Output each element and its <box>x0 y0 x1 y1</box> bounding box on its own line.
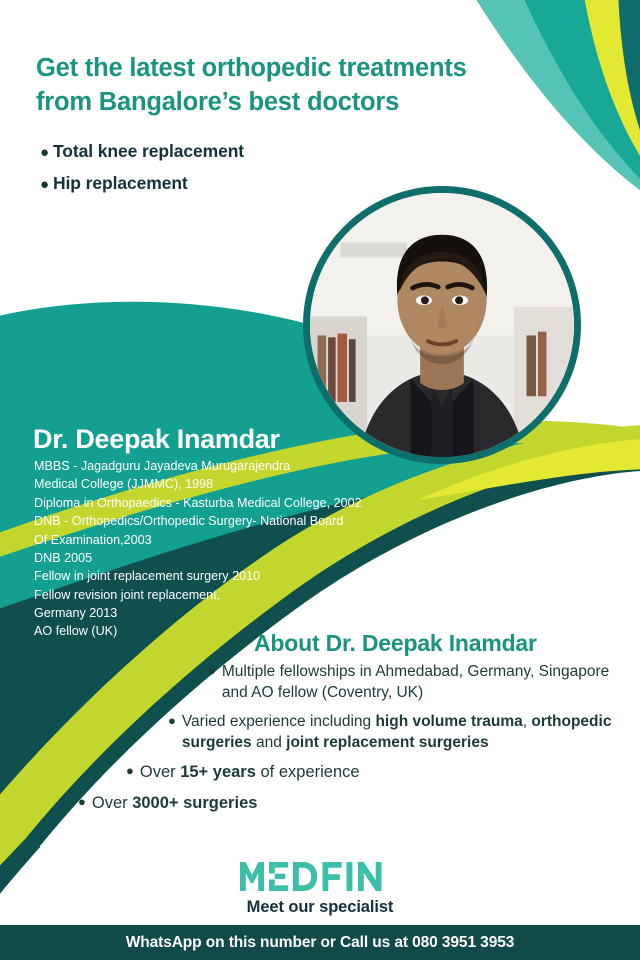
treatment-label: Total knee replacement <box>53 141 244 162</box>
treatment-list: ● Total knee replacement ● Hip replaceme… <box>40 141 370 205</box>
poster-root: Get the latest orthopedic treatments fro… <box>0 0 640 960</box>
about-item-text: Multiple fellowships in Ahmedabad, Germa… <box>222 662 620 703</box>
about-item-text: Over 3000+ surgeries <box>92 793 258 815</box>
bullet-icon: ● <box>78 793 92 815</box>
list-item: ● Over 15+ years of experience <box>60 762 620 784</box>
credential-line: Medical College (JJMMC), 1998 <box>34 475 414 493</box>
credential-line: MBBS - Jagadguru Jayadeva Murugarajendra <box>34 457 414 475</box>
footer-contact-text: WhatsApp on this number or Call us at 08… <box>126 934 515 952</box>
credential-line: Of Examination,2003 <box>34 531 414 549</box>
about-list: ● Multiple fellowships in Ahmedabad, Ger… <box>60 662 620 824</box>
doctor-portrait <box>303 186 581 464</box>
credential-line: DNB - Orthopedics/Orthopedic Surgery- Na… <box>34 512 414 530</box>
treatment-label: Hip replacement <box>53 173 188 194</box>
brand-tagline: Meet our specialist <box>0 898 640 917</box>
headline-line-1: Get the latest orthopedic treatments <box>36 52 456 86</box>
bullet-icon: ● <box>40 145 53 160</box>
footer-contact-bar: WhatsApp on this number or Call us at 08… <box>0 925 640 960</box>
about-item-text: Over 15+ years of experience <box>140 762 360 784</box>
credential-line: Diploma in Orthopaedics - Kasturba Medic… <box>34 494 414 512</box>
bullet-icon: ● <box>126 762 140 784</box>
about-heading: About Dr. Deepak Inamdar <box>254 630 537 657</box>
doctor-credentials: MBBS - Jagadguru Jayadeva Murugarajendra… <box>34 457 414 641</box>
brand-block: Meet our specialist <box>0 862 640 917</box>
about-item-text: Varied experience including high volume … <box>182 712 620 753</box>
bullet-icon: ● <box>40 177 53 192</box>
headline-line-2: from Bangalore’s best doctors <box>36 86 456 120</box>
list-item: ● Total knee replacement <box>40 141 370 162</box>
credential-line: Fellow revision joint replacement, <box>34 586 414 604</box>
credential-line: Fellow in joint replacement surgery 2010 <box>34 567 414 585</box>
list-item: ● Over 3000+ surgeries <box>60 793 620 815</box>
page-title: Get the latest orthopedic treatments fro… <box>36 52 456 119</box>
list-item: ● Hip replacement <box>40 173 370 194</box>
credential-line: Germany 2013 <box>34 604 414 622</box>
list-item: ● Varied experience including high volum… <box>60 712 620 753</box>
credential-line: DNB 2005 <box>34 549 414 567</box>
medfin-logo <box>240 862 400 892</box>
doctor-name: Dr. Deepak Inamdar <box>33 424 280 455</box>
list-item: ● Multiple fellowships in Ahmedabad, Ger… <box>60 662 620 703</box>
bullet-icon: ● <box>168 712 182 753</box>
bullet-icon: ● <box>208 662 222 703</box>
portrait-image <box>310 193 574 457</box>
